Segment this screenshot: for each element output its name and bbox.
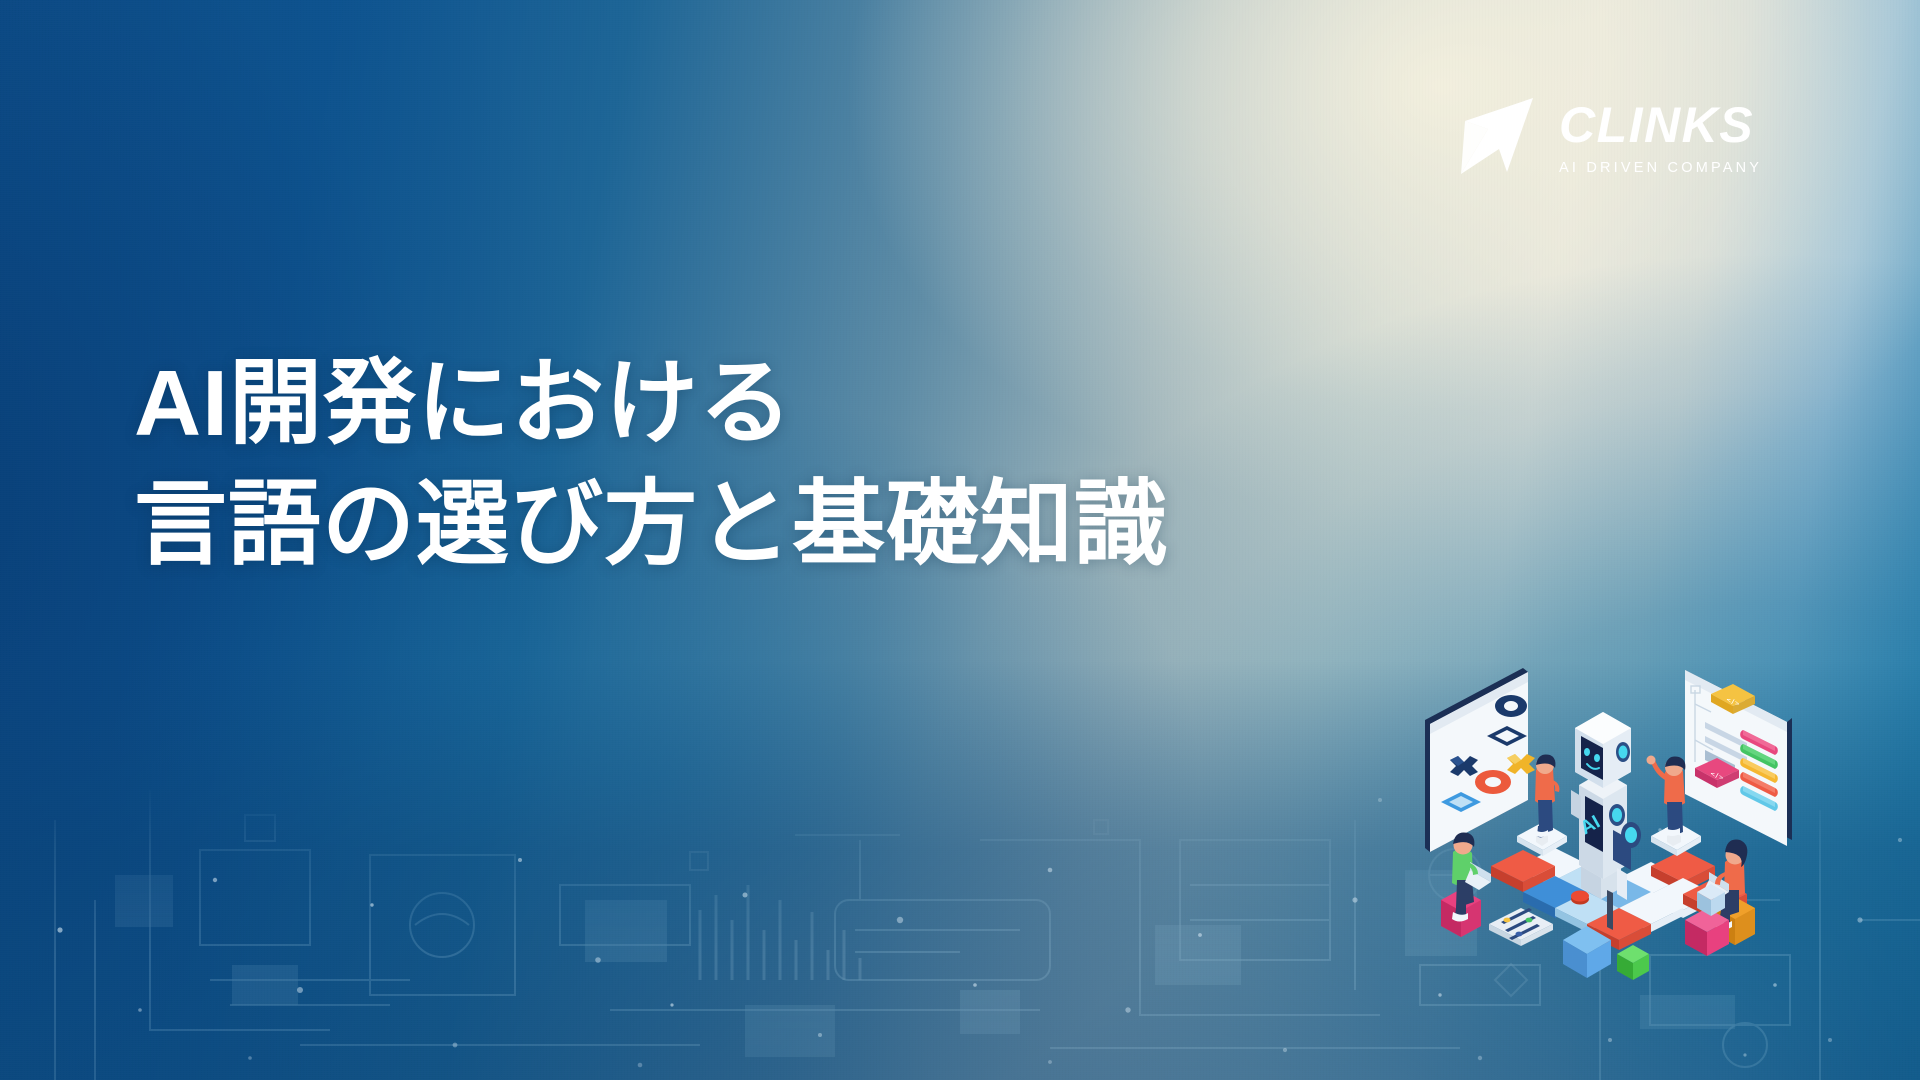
cube-green-icon (1617, 945, 1649, 980)
headline-line-2: 言語の選び方と基礎知識 (134, 464, 1168, 585)
isometric-ai-illustration: </> </> (1395, 640, 1815, 980)
person-sitting-laptop-left-icon (1441, 832, 1491, 937)
banner-root: CLINKS AI DRIVEN COMPANY AI開発における 言語の選び方… (0, 0, 1920, 1080)
headline-line-1: AI開発における (134, 343, 1168, 464)
logo-name: CLINKS (1559, 100, 1762, 150)
code-board-icon: </> </> (1685, 670, 1792, 846)
clinks-logo[interactable]: CLINKS AI DRIVEN COMPANY (1455, 96, 1762, 176)
page-title: AI開発における 言語の選び方と基礎知識 (134, 343, 1168, 585)
shapes-board-icon (1425, 668, 1535, 852)
slider-control-panel-icon (1489, 908, 1553, 946)
logo-tagline: AI DRIVEN COMPANY (1559, 160, 1762, 176)
red-button-icon (1571, 891, 1589, 905)
clinks-arrow-icon (1455, 96, 1537, 176)
